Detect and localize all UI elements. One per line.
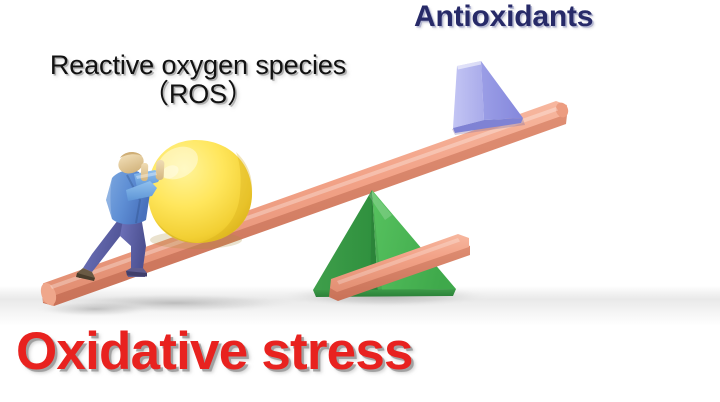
- oxidative-stress-label: Oxidative stress: [16, 325, 413, 379]
- blue-wedge-antioxidants: [452, 61, 525, 135]
- ros-label-line1: Reactive oxygen species: [50, 50, 346, 80]
- ros-label-line2: （ROS）: [18, 81, 378, 109]
- illustration-canvas: Antioxidants Reactive oxygen species （RO…: [0, 0, 720, 402]
- antioxidants-label: Antioxidants: [414, 2, 593, 33]
- ros-label: Reactive oxygen species （ROS）: [18, 52, 378, 108]
